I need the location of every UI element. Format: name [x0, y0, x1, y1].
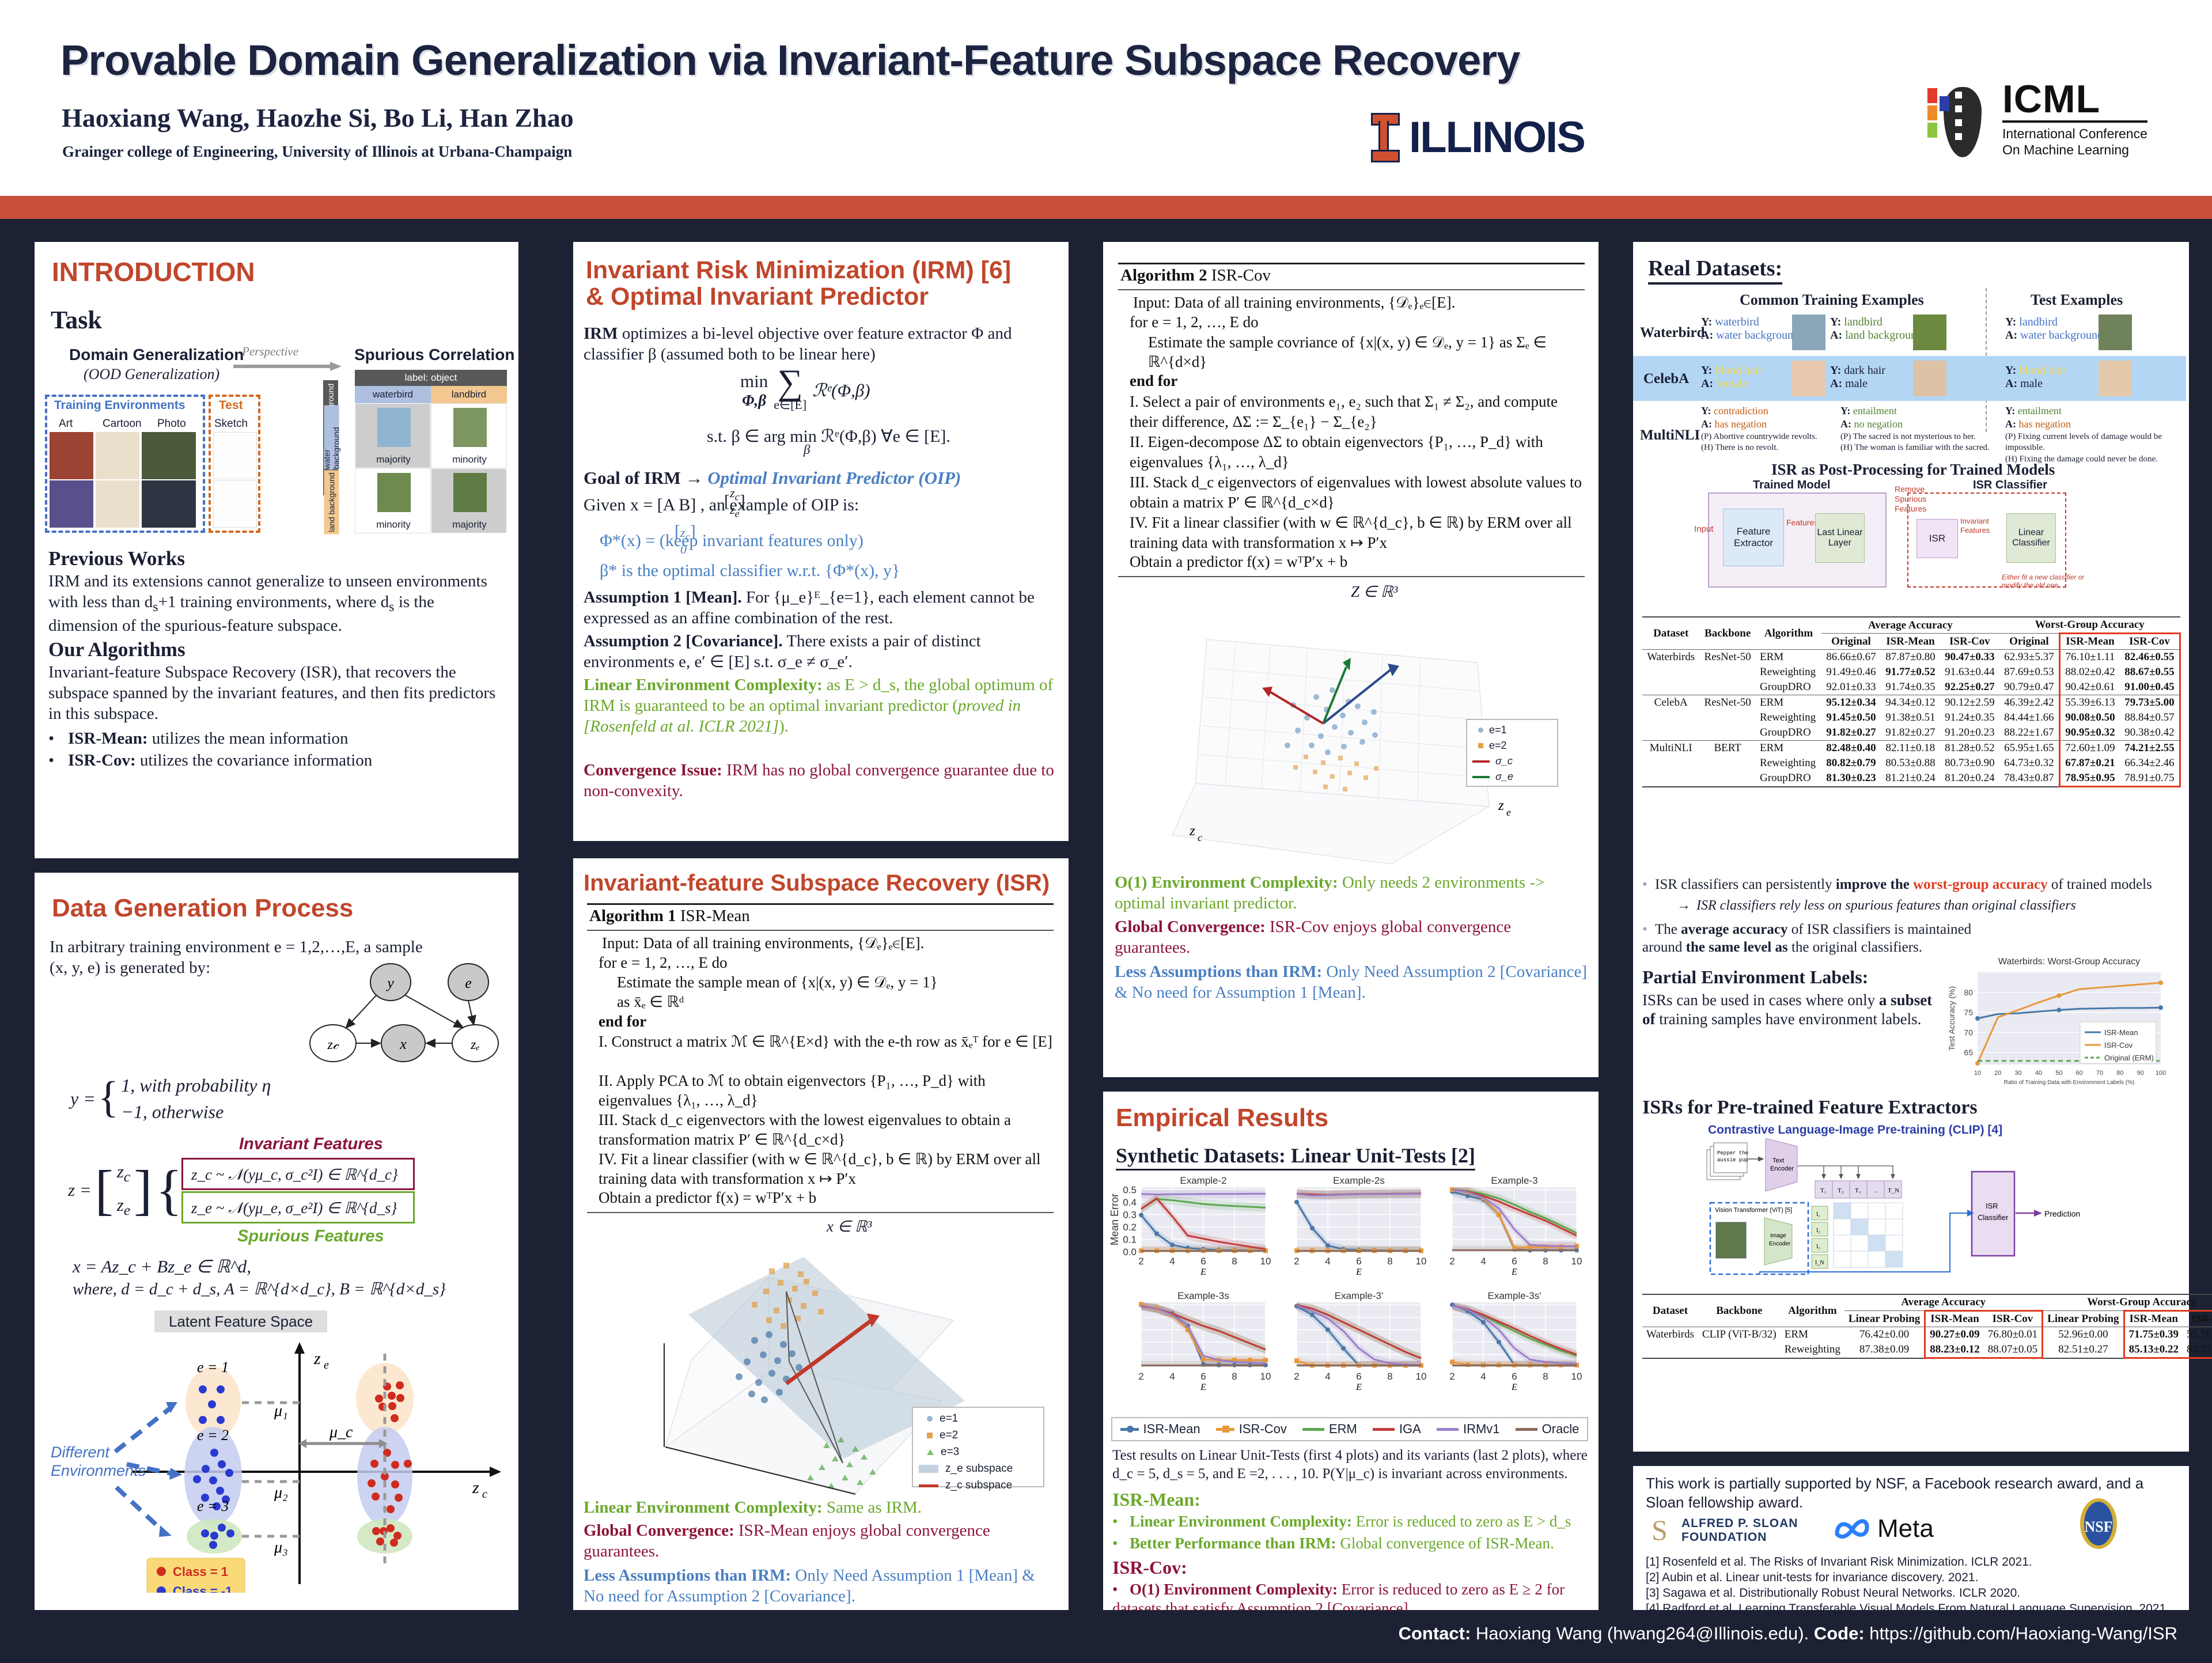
cell-backbone: CLIP (ViT-B/32) — [1698, 1327, 1781, 1343]
sloan-line-1: ALFRED P. SLOAN — [1681, 1517, 1798, 1531]
sub2-col-0: Linear Probing — [1844, 1311, 1925, 1327]
svg-text:4: 4 — [1325, 1371, 1330, 1382]
algo1-line-8: IV. Fit a linear classifier (with w ∈ ℝ^… — [599, 1150, 1054, 1189]
svg-text:2: 2 — [1294, 1256, 1299, 1267]
algo2-line-2: Estimate the sample covriance of {x|(x, … — [1148, 333, 1586, 372]
svg-text:ISR-Cov: ISR-Cov — [2104, 1041, 2133, 1050]
input-label: Input — [1694, 524, 1713, 534]
isr-postprocessing-diagram: Trained Model ISR Classifier Remove Spur… — [1702, 481, 2128, 593]
svg-text:0.2: 0.2 — [1123, 1222, 1137, 1233]
svg-text:10: 10 — [1416, 1256, 1427, 1267]
cell-value: 91.38±0.51 — [1881, 710, 1940, 725]
y-val: dark hair — [1844, 364, 1885, 377]
bullet-label: Linear Environment Complexity: — [1130, 1513, 1352, 1530]
svg-text:6: 6 — [1200, 1256, 1206, 1267]
table-row: Reweighting87.38±0.0988.23±0.1288.07±0.0… — [1642, 1342, 2212, 1358]
a-key: A: — [1830, 329, 1842, 342]
svg-text:20: 20 — [1994, 1070, 2001, 1077]
irm-constraint-equation: s.t. β ∈ arg min ℛᵉ(Φ,β) ∀e ∈ [E]. — [707, 426, 950, 446]
constraint-argmin-subscript: β — [804, 442, 810, 457]
contact-value: Haoxiang Wang (hwang264@Illinois.edu). — [1471, 1623, 1814, 1643]
cell-dataset: CelebA — [1642, 695, 1699, 711]
y-key: Y: — [2005, 364, 2016, 377]
irm-title-line2: & Optimal Invariant Predictor — [586, 283, 929, 310]
isr-cov-3d-axis-label: Z ∈ ℝ³ — [1351, 583, 1398, 601]
grid-cell-label: majority — [431, 519, 507, 531]
col2-dataset: Dataset — [1642, 1294, 1698, 1327]
legend-marker-ze-subspace — [919, 1465, 938, 1473]
svg-text:70: 70 — [1964, 1028, 1973, 1037]
isr-panel: Invariant-feature Subspace Recovery (ISR… — [573, 858, 1069, 1610]
svg-text:Example-3': Example-3' — [1335, 1290, 1384, 1301]
cell-value: 87.38±0.09 — [1844, 1342, 1925, 1358]
real-datasets-panel: Real Datasets: Common Training Examples … — [1633, 242, 2189, 1452]
reference-item: [3] Sagawa et al. Distributionally Robus… — [1646, 1586, 2170, 1601]
cell-dataset — [1642, 725, 1699, 741]
trained-model-label: Trained Model — [1753, 479, 1830, 492]
test-examples-header: Test Examples — [2031, 291, 2123, 309]
sub2-col-3: Linear Probing — [2043, 1311, 2124, 1327]
svg-text:μ₁: μ₁ — [274, 1402, 288, 1420]
sum-subscript: e∈[E] — [774, 397, 806, 412]
svg-text:4: 4 — [1480, 1371, 1486, 1382]
cell-backbone — [1698, 1342, 1781, 1358]
svg-text:E: E — [1200, 1382, 1206, 1392]
svg-text:E: E — [1200, 1267, 1206, 1277]
svg-text:Class = 1: Class = 1 — [173, 1564, 228, 1579]
assumption-2-label: Assumption 2 [Covariance]. — [584, 632, 783, 650]
algorithm-bullet-isr-cov: •ISR-Cov: utilizes the covariance inform… — [48, 751, 509, 771]
cell-value: 76.42±0.00 — [1844, 1327, 1925, 1343]
cell-value: 80.53±0.88 — [1881, 756, 1940, 771]
bullet-label: ISR-Cov: — [68, 751, 136, 770]
y-key: Y: — [1830, 364, 1841, 377]
arrow-icon: → — [1677, 898, 1691, 913]
svg-text:..: .. — [1874, 1187, 1877, 1194]
cell-value: 55.76±0.00 — [2183, 1327, 2212, 1343]
algo1-line-5: I. Construct a matrix ℳ ∈ ℝ^{E×d} with t… — [599, 1032, 1054, 1052]
a-key: A: — [2005, 418, 2016, 430]
col2-worst-group-accuracy: Worst-Group Accuracy — [2043, 1294, 2212, 1311]
cell-value: 91.20±0.23 — [1940, 725, 1999, 741]
legend-swatch-erm — [1302, 1428, 1324, 1431]
cell-value: 55.39±6.13 — [2059, 695, 2120, 711]
header-divider — [0, 196, 2212, 219]
legend-marker-e2 — [927, 1433, 933, 1438]
sloan-logo: S ALFRED P. SLOAN FOUNDATION — [1650, 1516, 1798, 1545]
cell-dataset — [1642, 771, 1699, 787]
author-list: Haoxiang Wang, Haozhe Si, Bo Li, Han Zha… — [62, 103, 574, 133]
svg-text:Encoder: Encoder — [1770, 1165, 1794, 1172]
y-case-1: 1, with probability η — [121, 1074, 271, 1097]
svg-text:6: 6 — [1512, 1256, 1517, 1267]
example-image-waterbird-train-1 — [1792, 315, 1825, 350]
legend-label-e1: e=1 — [940, 1412, 958, 1425]
svg-text:2: 2 — [1138, 1256, 1143, 1267]
algo2-mid-rule — [1118, 289, 1585, 290]
legend-label-sigma-c: σ_c — [1495, 755, 1513, 767]
svg-text:10: 10 — [1260, 1256, 1271, 1267]
svg-text:8: 8 — [1543, 1256, 1548, 1267]
svg-text:8: 8 — [1232, 1371, 1237, 1382]
algo1-line-1: for e = 1, 2, …, E do — [599, 954, 728, 972]
svg-text:S: S — [1652, 1516, 1668, 1545]
svg-text:50: 50 — [2055, 1070, 2062, 1077]
y-eq-lhs: y = — [70, 1088, 96, 1111]
affiliation: Grainger college of Engineering, Univers… — [62, 143, 572, 161]
unit-test-charts: Example-2246810E0.00.10.20.30.40.5Mean E… — [1109, 1172, 1593, 1414]
svg-text:E: E — [1355, 1382, 1362, 1392]
svg-text:60: 60 — [2076, 1070, 2083, 1077]
svg-text:I₁: I₁ — [1816, 1211, 1820, 1218]
svg-text:zₑ: zₑ — [470, 1037, 480, 1052]
table-row: WaterbirdsCLIP (ViT-B/32)ERM76.42±0.0090… — [1642, 1327, 2212, 1343]
algo1-line-6: II. Apply PCA to ℳ to obtain eigenvector… — [599, 1071, 1054, 1111]
legend-swatch-iga — [1373, 1428, 1395, 1431]
given-text: Given x = [A B] , an example of OIP is: — [584, 495, 859, 514]
algo2-bottom-rule — [1118, 576, 1585, 577]
svg-text:0.3: 0.3 — [1123, 1209, 1137, 1220]
svg-text:30: 30 — [2015, 1070, 2022, 1077]
cell-backbone — [1699, 725, 1756, 741]
sample-image-cartoon-1 — [96, 432, 139, 479]
previous-works-heading: Previous Works — [48, 547, 185, 570]
cell-value: 62.93±5.37 — [1999, 650, 2060, 665]
finding-2-bold2: the same level as — [1686, 940, 1788, 955]
svg-text:8: 8 — [1543, 1371, 1548, 1382]
sloan-line-2: FOUNDATION — [1681, 1531, 1798, 1544]
unit-test-caption-1: Test results on Linear Unit-Tests (first… — [1112, 1446, 1589, 1464]
isr-mean-result-bullet-1: •Linear Environment Complexity: Error is… — [1112, 1512, 1589, 1531]
algo1-line-9: Obtain a predictor f(x) = wᵀP′x + b — [599, 1189, 816, 1207]
isr-cov-3d-figure: Z ∈ ℝ³ — [1120, 582, 1581, 881]
example-image-waterbird-test — [2099, 315, 2132, 350]
chart-2: Example-3246810E — [1449, 1175, 1582, 1277]
a-key: A: — [1840, 418, 1851, 430]
cell-value: 91.77±0.52 — [1881, 665, 1940, 680]
svg-text:T_N: T_N — [1888, 1187, 1899, 1194]
cell-value: 90.42±0.61 — [2059, 680, 2120, 695]
unit-test-chart-grid: Example-2246810E0.00.10.20.30.40.5Mean E… — [1109, 1172, 1593, 1414]
col2-algorithm: Algorithm — [1781, 1294, 1844, 1327]
svg-text:I₃: I₃ — [1816, 1244, 1820, 1250]
svg-text:8: 8 — [1387, 1256, 1392, 1267]
illinois-block-i-icon — [1371, 113, 1396, 162]
algo1-line-7: III. Stack d_c eigenvectors with the low… — [599, 1111, 1054, 1150]
col-backbone: Backbone — [1699, 617, 1756, 650]
cell-value: 87.87±0.80 — [1881, 650, 1940, 665]
a-val: no negation — [1854, 418, 1903, 430]
cell-value: 90.08±0.50 — [2059, 710, 2120, 725]
table-row: GroupDRO91.82±0.2791.82±0.2791.20±0.2388… — [1642, 725, 2180, 741]
chart-3: Example-3s246810E — [1138, 1290, 1271, 1392]
illinois-wordmark: ILLINOIS — [1409, 112, 1585, 162]
cell-value: 91.63±0.44 — [1940, 665, 1999, 680]
algo2-line-1: for e = 1, 2, …, E do — [1130, 313, 1259, 331]
sub-col-4: ISR-Mean — [2059, 634, 2120, 650]
sample-image-photo-2 — [142, 480, 196, 528]
cell-value: 78.91±0.75 — [2120, 771, 2180, 787]
cov-la-label: Less Assumptions than IRM: — [1115, 963, 1322, 981]
synthetic-datasets-subtitle: Synthetic Datasets: Linear Unit-Tests [2… — [1116, 1143, 1475, 1170]
cell-algorithm: ERM — [1781, 1327, 1844, 1343]
svg-text:40: 40 — [2035, 1070, 2042, 1077]
sloan-s-icon: S — [1650, 1516, 1676, 1545]
y-key: Y: — [1701, 316, 1712, 328]
svg-text:z𝒸: z𝒸 — [327, 1037, 339, 1052]
grid-row-water-bg: water background — [324, 406, 339, 469]
svg-text:z: z — [472, 1478, 479, 1497]
svg-text:100: 100 — [2156, 1070, 2166, 1077]
grid-col-landbird: landbird — [431, 386, 507, 403]
legend-label-cov-e1: e=1 — [1489, 724, 1507, 736]
test-label: Test — [219, 399, 243, 412]
reference-item: [2] Aubin et al. Linear unit-tests for i… — [1646, 1570, 2170, 1586]
isr-3d-axis-label: x ∈ ℝ³ — [827, 1218, 872, 1236]
svg-text:E: E — [1355, 1267, 1362, 1277]
cell-value: 90.95±0.32 — [2059, 725, 2120, 741]
a-val: water background — [2020, 329, 2103, 342]
svg-text:e = 2: e = 2 — [197, 1427, 229, 1444]
svg-text:Encoder: Encoder — [1769, 1241, 1791, 1247]
pretrained-results-table: Dataset Backbone Algorithm Average Accur… — [1642, 1294, 2181, 1361]
cell-backbone — [1699, 665, 1756, 680]
cell-value: 90.38±0.42 — [2120, 725, 2180, 741]
grid-image-landbird-land — [453, 473, 487, 512]
domain-label-photo: Photo — [157, 418, 186, 430]
svg-text:4: 4 — [1169, 1256, 1175, 1267]
common-training-examples-header: Common Training Examples — [1740, 291, 1924, 309]
legend-label-e2: e=2 — [940, 1429, 958, 1442]
oip-definition-line: Φ*(x) = (keep invariant features only) — [600, 530, 863, 551]
cell-dataset: Waterbirds — [1642, 650, 1699, 665]
svg-text:90: 90 — [2137, 1070, 2144, 1077]
isr-3d-legend: e=1 e=2 e=3 z_e subspace z_c subspace — [912, 1407, 1044, 1487]
spurious-correlation-label: Spurious Correlation — [354, 346, 514, 364]
meta-infinity-icon — [1835, 1516, 1872, 1542]
table-row: GroupDRO81.30±0.2381.21±0.2481.20±0.2478… — [1642, 771, 2180, 787]
cell-value: 88.02±0.42 — [2059, 665, 2120, 680]
cell-dataset — [1642, 756, 1699, 771]
dataset-row-celeba: CelebA Y: blond hair A: female Y: dark h… — [1633, 356, 2186, 401]
legend-swatch-isr-mean — [1120, 1428, 1139, 1431]
bullet-text: utilizes the covariance information — [136, 751, 373, 770]
cell-value: 85.13±0.22 — [2124, 1342, 2183, 1358]
algo1-mid-rule — [587, 930, 1054, 931]
svg-text:80: 80 — [2116, 1070, 2123, 1077]
cell-value: 71.75±0.39 — [2124, 1327, 2183, 1343]
svg-text:μ₂: μ₂ — [274, 1484, 288, 1502]
legend-marker-cov-e1 — [1478, 728, 1483, 733]
oip-label: Optimal Invariant Predictor (OIP) — [707, 468, 961, 488]
svg-text:e: e — [324, 1359, 329, 1372]
a-key: A: — [2005, 377, 2017, 390]
grid-cell-label: majority — [355, 454, 431, 465]
data-generation-title: Data Generation Process — [52, 895, 353, 922]
algo1-subname: ISR-Mean — [680, 907, 750, 925]
clip-diagram: Pepper the aussie pup Text Encoder T₁ T₂… — [1702, 1138, 2163, 1282]
svg-text:x: x — [399, 1036, 407, 1052]
x-equation: x = Az_c + Bz_e ∈ ℝ^d, — [73, 1256, 251, 1278]
cell-value: 90.79±0.47 — [1999, 680, 2060, 695]
cell-value: 74.21±2.55 — [2120, 741, 2180, 756]
domain-label-cartoon: Cartoon — [103, 418, 142, 430]
cell-algorithm: Reweighting — [1781, 1342, 1844, 1358]
cell-value: 91.00±0.45 — [2120, 680, 2180, 695]
irm-objective-equation: min Φ,β ∑ e∈[E] ℛᵉ(Φ,β) — [740, 369, 870, 412]
cell-value: 80.73±0.90 — [1940, 756, 1999, 771]
y-key: Y: — [2005, 316, 2016, 328]
svg-text:10: 10 — [1416, 1371, 1427, 1382]
algo2-top-rule — [1118, 263, 1585, 264]
legend-label-ze: z_e subspace — [945, 1463, 1013, 1475]
spurious-features-label: Spurious Features — [237, 1227, 384, 1246]
isr-mean-results-heading: ISR-Mean: — [1112, 1489, 1200, 1510]
a-key: A: — [2005, 329, 2017, 342]
svg-text:Example-3s: Example-3s — [1177, 1290, 1229, 1301]
bullet-text: Global convergence of ISR-Mean. — [1336, 1535, 1554, 1552]
svg-text:0.1: 0.1 — [1123, 1234, 1137, 1245]
cell-value: 80.82±0.79 — [1821, 756, 1881, 771]
sub2-col-1: ISR-Mean — [1925, 1311, 1984, 1327]
assumption-1-label: Assumption 1 [Mean]. — [584, 588, 742, 607]
risk-term: ℛᵉ(Φ,β) — [812, 380, 870, 401]
min-operator: min — [740, 371, 768, 392]
legend-marker-sigma-e — [1472, 776, 1490, 778]
example-image-celeba-train-2 — [1913, 361, 1946, 396]
finding-arrow-line: →ISR classifiers rely less on spurious f… — [1677, 897, 2184, 915]
isr-classifier-label: ISR Classifier — [1973, 479, 2047, 492]
icml-subtitle-2: On Machine Learning — [2002, 142, 2147, 158]
chart-5: Example-3s'246810E — [1449, 1290, 1582, 1392]
example-image-celeba-train-1 — [1792, 361, 1825, 396]
algo2-line-0: Input: Data of all training environments… — [1133, 294, 1455, 312]
cell-value: 91.74±0.35 — [1881, 680, 1940, 695]
cell-value: 76.80±0.01 — [1984, 1327, 2043, 1343]
grid-image-landbird-water — [453, 408, 487, 447]
cell-value: 92.25±0.27 — [1940, 680, 1999, 695]
sample-image-art-2 — [50, 480, 93, 528]
a-key: A: — [1830, 377, 1842, 390]
y-key: Y: — [1830, 316, 1841, 328]
cell-value: 67.87±0.21 — [2059, 756, 2120, 771]
svg-text:y: y — [385, 975, 394, 991]
cell-value: 82.48±0.40 — [1821, 741, 1881, 756]
poster-footer: Contact: Haoxiang Wang (hwang264@Illinoi… — [0, 1611, 2212, 1659]
table-row: Reweighting80.82±0.7980.53±0.8880.73±0.9… — [1642, 756, 2180, 771]
sub-col-5: ISR-Cov — [2120, 634, 2180, 650]
col-avg-accuracy: Average Accuracy — [1821, 617, 1999, 634]
cell-value: 82.51±0.27 — [2043, 1342, 2124, 1358]
cell-value: 94.34±0.12 — [1881, 695, 1940, 711]
assumption-2: Assumption 2 [Covariance]. There exists … — [584, 631, 1059, 673]
svg-text:E: E — [1511, 1382, 1517, 1392]
cell-algorithm: ERM — [1756, 650, 1821, 665]
cell-value: 91.24±0.35 — [1940, 710, 1999, 725]
isr-note: Either fit a new classifier or modify th… — [2002, 573, 2105, 590]
legend-swatch-isr-cov — [1216, 1428, 1234, 1431]
clip-label: Contrastive Language-Image Pre-training … — [1708, 1123, 2002, 1137]
a-key: A: — [1701, 329, 1713, 342]
cell-value: 78.95±0.95 — [2059, 771, 2120, 787]
y-key: Y: — [1701, 405, 1711, 416]
svg-text:μ_c: μ_c — [329, 1423, 353, 1441]
label-object-header: label: object — [355, 370, 507, 386]
bullet-label: O(1) Environment Complexity: — [1130, 1581, 1338, 1598]
cell-dataset: Waterbirds — [1642, 1327, 1698, 1343]
a-key: A: — [1701, 418, 1712, 430]
cell-dataset: MultiNLI — [1642, 741, 1699, 756]
svg-text:c: c — [1198, 832, 1202, 843]
dataset-row-multinli: MultiNLI Y: contradiction A: has negatio… — [1639, 404, 2183, 450]
svg-text:z: z — [313, 1349, 321, 1368]
chart-1: Example-2s246810E — [1294, 1175, 1426, 1277]
cell-value: 88.07±0.05 — [1984, 1342, 2043, 1358]
cell-backbone: ResNet-50 — [1699, 650, 1756, 665]
code-label: Code: — [1814, 1623, 1865, 1643]
isr-cov-panel: Algorithm 2 ISR-Cov Input: Data of all t… — [1103, 242, 1599, 1077]
cell-algorithm: ERM — [1756, 741, 1821, 756]
causal-graph: y e z𝒸 x zₑ — [305, 959, 507, 1069]
partial-env-labels-text: ISRs can be used in cases where only a s… — [1642, 991, 1936, 1029]
code-value: https://github.com/Haoxiang-Wang/ISR — [1865, 1623, 2177, 1643]
convergence-label: Convergence Issue: — [584, 761, 722, 779]
legend-label-zc: z_c subspace — [945, 1479, 1012, 1492]
finding-1-bold: improve the — [1836, 877, 1913, 892]
finding-1-pre: ISR classifiers can persistently — [1655, 877, 1836, 892]
y-val: entailment — [2018, 405, 2062, 416]
domain-label-art: Art — [59, 418, 73, 430]
legend-marker-cov-e2 — [1478, 743, 1483, 748]
svg-text:Example-2s: Example-2s — [1333, 1175, 1385, 1186]
cell-value: 64.73±0.32 — [1999, 756, 2060, 771]
unit-test-chart-legend: ISR-Mean ISR-Cov ERM IGA IRMv1 Oracle — [1111, 1417, 1588, 1441]
lec-label: Linear Environment Complexity: — [584, 676, 823, 694]
legend-label-e3: e=3 — [941, 1446, 959, 1459]
premise: (P) Abortive countrywide revolts. — [1701, 431, 1817, 443]
y-case-2: −1, otherwise — [121, 1101, 271, 1124]
cell-backbone — [1699, 756, 1756, 771]
ze-distribution: z_e ~ 𝒩(yμ_e, σ_e²I) ∈ ℝ^{d_s} — [191, 1199, 397, 1218]
goal-label: Goal of IRM → — [584, 468, 707, 488]
svg-text:75: 75 — [1964, 1008, 1973, 1017]
legend-swatch-oracle — [1516, 1428, 1537, 1431]
cell-algorithm: GroupDRO — [1756, 771, 1821, 787]
svg-text:2: 2 — [1138, 1371, 1143, 1382]
isr-title: Invariant-feature Subspace Recovery (ISR… — [584, 871, 1050, 896]
algo1-line-2: Estimate the sample mean of {x|(x, y) ∈ … — [617, 973, 938, 992]
given-line: Given x = [A B] , an example of OIP is: — [584, 494, 859, 516]
partial-env-labels-title: Partial Environment Labels: — [1642, 967, 1868, 988]
svg-text:80: 80 — [1964, 988, 1973, 997]
isr-gc-label: Global Convergence: — [584, 1521, 734, 1540]
feature-extractor-label: Feature Extractor — [1724, 526, 1783, 549]
svg-text:0.5: 0.5 — [1123, 1184, 1137, 1195]
empirical-results-title: Empirical Results — [1116, 1104, 1328, 1132]
footer-contact: Contact: Haoxiang Wang (hwang264@Illinoi… — [1399, 1623, 2177, 1644]
sample-image-sketch-1 — [213, 432, 257, 479]
sub-col-3: Original — [1999, 634, 2060, 650]
y-val: landbird — [2019, 316, 2058, 328]
svg-text:Waterbirds: Worst-Group Accura: Waterbirds: Worst-Group Accuracy — [1998, 957, 2140, 967]
bullet-text: utilizes the mean information — [148, 729, 349, 748]
assumption-1: Assumption 1 [Mean]. For {μ_e}ᴱ_{e=1}, e… — [584, 588, 1059, 629]
perspective-arrow-label: Perspective — [242, 344, 298, 359]
svg-text:4: 4 — [1169, 1371, 1175, 1382]
cell-dataset — [1642, 665, 1699, 680]
cell-dataset — [1642, 1342, 1698, 1358]
ood-generalization-sublabel: (OOD Generalization) — [84, 365, 219, 384]
